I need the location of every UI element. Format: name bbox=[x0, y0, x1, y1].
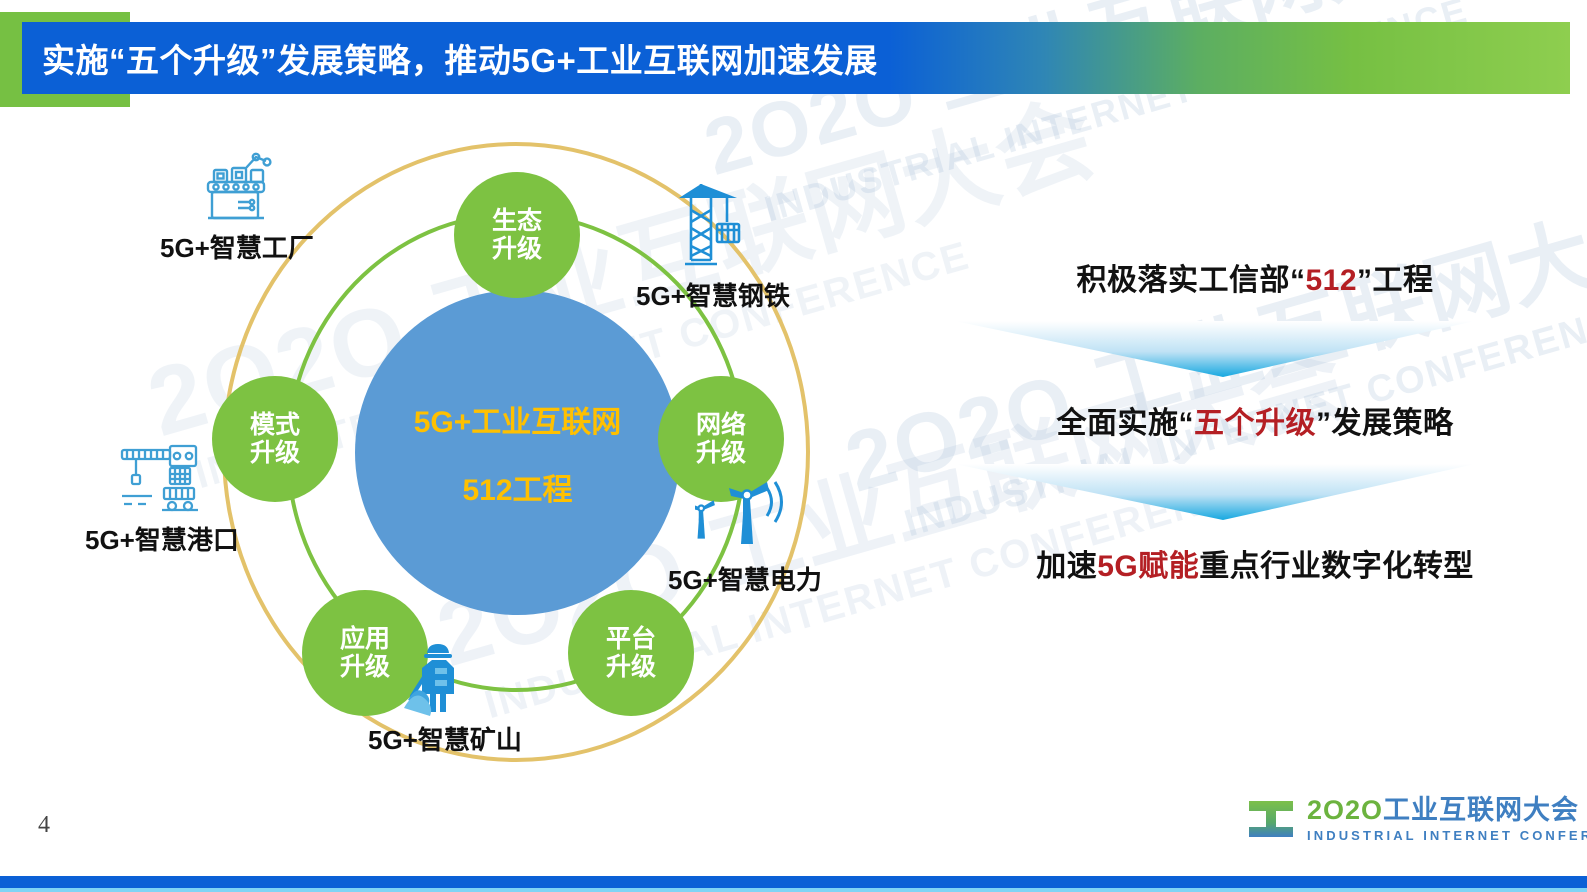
industry-smart-port[interactable]: 5G+智慧港口 bbox=[85, 438, 239, 557]
statement-highlight: 5G赋能 bbox=[1097, 550, 1199, 583]
logo-year: 2O2O bbox=[1307, 795, 1383, 825]
statement-suffix: ”工程 bbox=[1357, 264, 1434, 297]
center-circle: 5G+工业互联网 512工程 bbox=[355, 290, 680, 615]
industry-label: 5G+智慧钢铁 bbox=[636, 276, 790, 313]
statement-highlight: 512 bbox=[1305, 264, 1357, 297]
industry-label: 5G+智慧矿山 bbox=[368, 720, 522, 757]
node-label-line1: 模式 bbox=[250, 411, 300, 439]
industry-label: 5G+智慧工厂 bbox=[160, 228, 314, 265]
center-title-line1: 5G+工业互联网 bbox=[414, 397, 622, 441]
node-label-line2: 升级 bbox=[492, 235, 542, 263]
logo-name-cn: 工业互联网大会 bbox=[1383, 795, 1579, 825]
smart-factory-icon bbox=[194, 148, 280, 226]
miner-icon bbox=[402, 638, 488, 718]
wind-turbine-icon bbox=[695, 472, 795, 558]
logo-text: 2O2O工业互联网大会 INDUSTRIAL INTERNET CONFEREN… bbox=[1307, 797, 1587, 842]
title-bar: 实施“五个升级”发展策略，推动5G+工业互联网加速发展 bbox=[22, 22, 1570, 94]
crane-steel-icon bbox=[671, 178, 755, 274]
statement-prefix: 加速 bbox=[1036, 550, 1097, 583]
panel-statement-1: 积极落实工信部“512”工程 bbox=[955, 255, 1555, 299]
chevron-down-icon-2 bbox=[955, 460, 1475, 522]
node-label-line2: 升级 bbox=[250, 439, 300, 467]
node-label-line1: 平台 bbox=[606, 625, 656, 653]
panel-statement-2: 全面实施“五个升级”发展策略 bbox=[955, 398, 1555, 442]
industry-smart-steel[interactable]: 5G+智慧钢铁 bbox=[636, 178, 790, 313]
statement-suffix: ”发展策略 bbox=[1316, 407, 1454, 440]
node-label-line2: 升级 bbox=[696, 439, 746, 467]
node-label-line2: 升级 bbox=[606, 653, 656, 681]
footer-bar-highlight bbox=[0, 888, 1587, 892]
panel-statement-3: 加速5G赋能重点行业数字化转型 bbox=[955, 541, 1555, 585]
industry-label: 5G+智慧港口 bbox=[85, 520, 239, 557]
right-text-panel: 积极落实工信部“512”工程 全面实施“五个升级”发展策略 加速5G赋能重点行业… bbox=[955, 255, 1555, 585]
chevron-down-icon-1 bbox=[955, 317, 1475, 379]
port-crane-icon bbox=[114, 438, 210, 518]
industry-smart-power[interactable]: 5G+智慧电力 bbox=[668, 472, 822, 597]
logo-title-row: 2O2O工业互联网大会 bbox=[1307, 797, 1587, 824]
node-platform-upgrade[interactable]: 平台 升级 bbox=[568, 590, 694, 716]
industry-smart-factory[interactable]: 5G+智慧工厂 bbox=[160, 148, 314, 265]
node-label-line1: 网络 bbox=[696, 411, 746, 439]
industry-label: 5G+智慧电力 bbox=[668, 560, 822, 597]
page-title: 实施“五个升级”发展策略，推动5G+工业互联网加速发展 bbox=[22, 34, 878, 82]
circular-diagram: 5G+工业互联网 512工程 生态 升级 网络 升级 平台 升级 应用 升级 模… bbox=[100, 120, 930, 800]
statement-prefix: 积极落实工信部“ bbox=[1076, 264, 1305, 297]
node-ecosystem-upgrade[interactable]: 生态 升级 bbox=[454, 172, 580, 298]
logo-mark-icon bbox=[1245, 795, 1297, 843]
statement-prefix: 全面实施“ bbox=[1057, 407, 1195, 440]
page-number: 4 bbox=[38, 812, 50, 839]
industry-smart-mining[interactable]: 5G+智慧矿山 bbox=[368, 638, 522, 757]
center-title-line2: 512工程 bbox=[462, 465, 572, 509]
logo-name-en: INDUSTRIAL INTERNET CONFERENCE bbox=[1307, 829, 1587, 842]
conference-logo: 2O2O工业互联网大会 INDUSTRIAL INTERNET CONFEREN… bbox=[1245, 795, 1587, 843]
statement-highlight: 五个升级 bbox=[1194, 407, 1316, 440]
statement-suffix: 重点行业数字化转型 bbox=[1199, 550, 1474, 583]
node-label-line1: 生态 bbox=[492, 207, 542, 235]
